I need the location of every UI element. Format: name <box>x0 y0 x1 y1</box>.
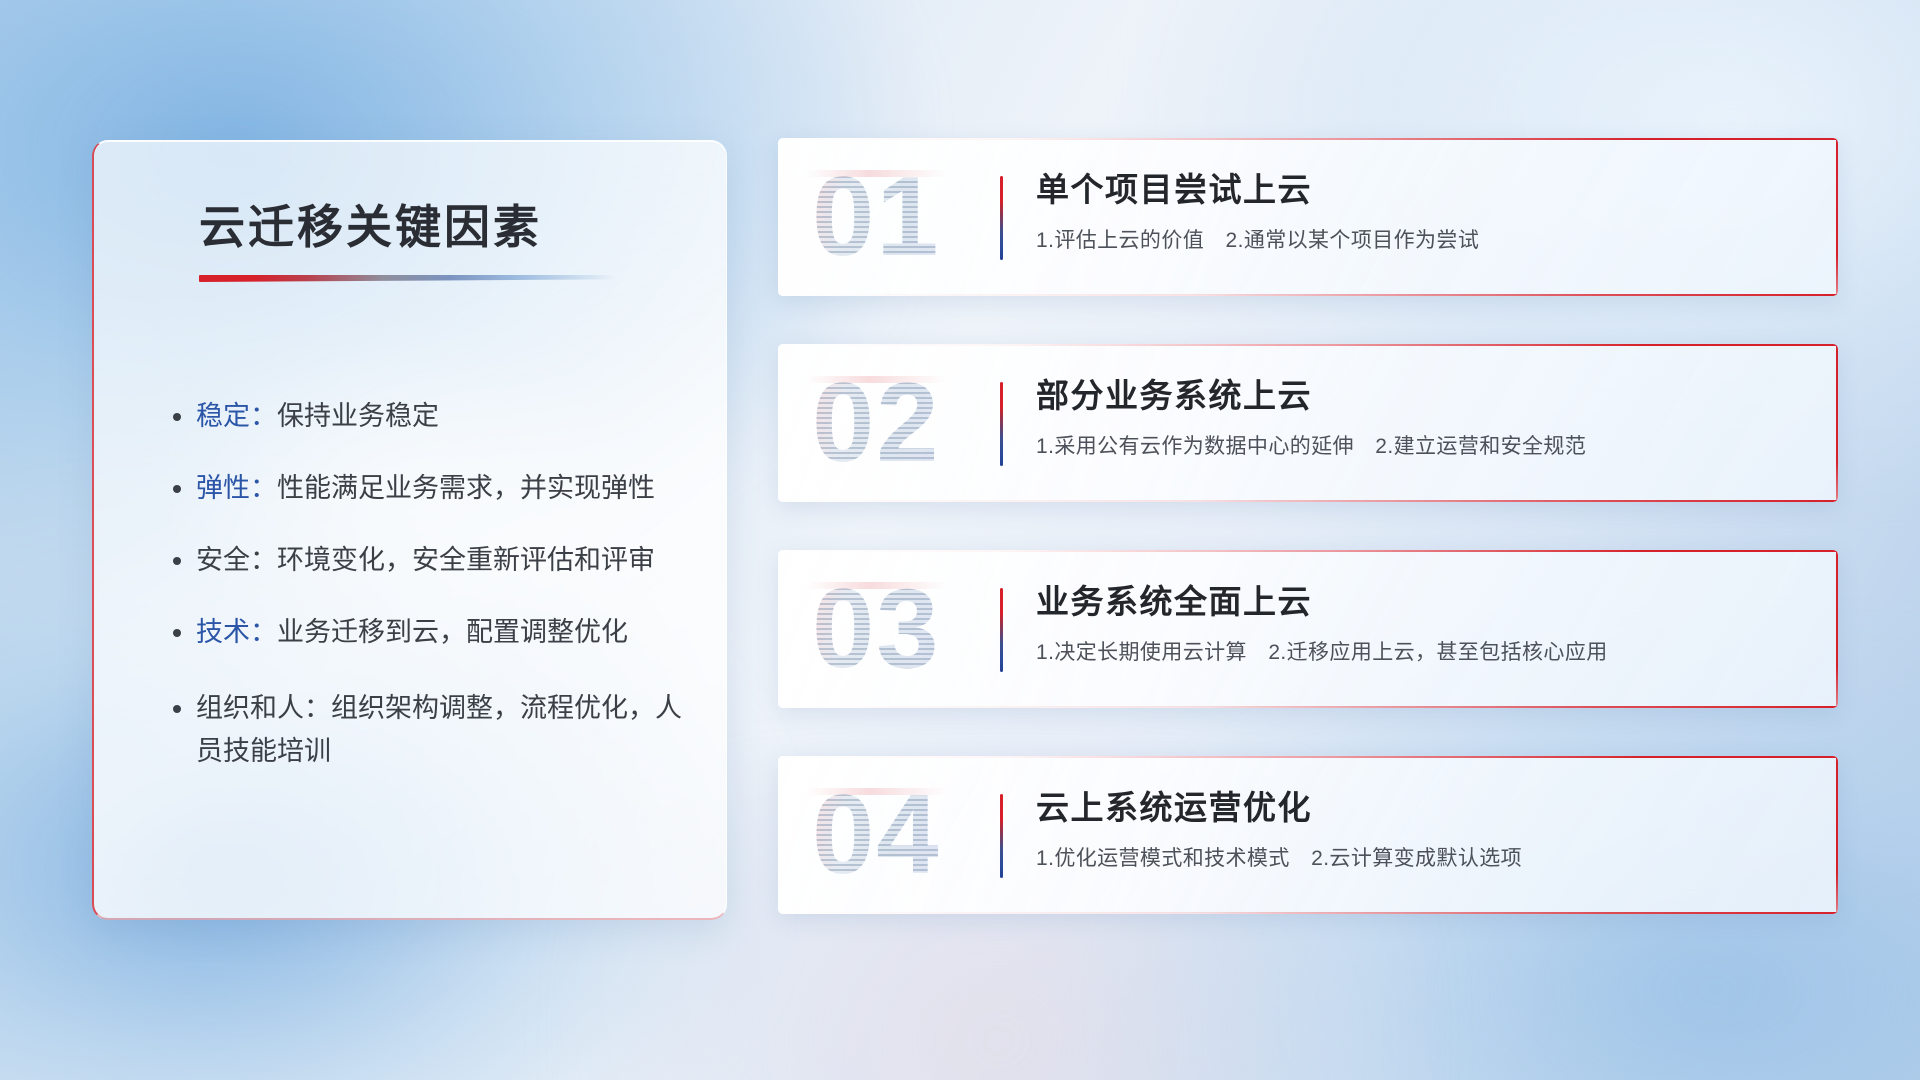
stage-description: 1.评估上云的价值 2.通常以某个项目作为尝试 <box>1036 226 1798 255</box>
stage-text-block: 部分业务系统上云 1.采用公有云作为数据中心的延伸 2.建立运营和安全规范 <box>1036 376 1798 461</box>
card-right-accent-line <box>1836 344 1838 502</box>
list-item: 弹性：性能满足业务需求，并实现弹性 <box>196 471 696 507</box>
card-right-accent-line <box>1836 550 1838 708</box>
stage-card-03[interactable]: 03 业务系统全面上云 1.决定长期使用云计算 2.迁移应用上云，甚至包括核心应… <box>778 550 1838 708</box>
factor-label: 弹性： <box>196 473 277 503</box>
factor-text: 保持业务稳定 <box>277 401 439 431</box>
card-bottom-accent-line <box>778 294 1838 296</box>
factor-text: 环境变化，安全重新评估和评审 <box>277 545 655 575</box>
card-top-accent-line <box>778 344 1838 346</box>
factor-label: 组织和人： <box>196 693 331 723</box>
stage-number-watermark: 03 <box>812 573 941 685</box>
slide-stage: 云迁移关键因素 稳定：保持业务稳定 弹性：性能满足业务需求，并实现弹性 安全：环… <box>0 0 1920 1080</box>
list-item: 组织和人：组织架构调整，流程优化，人员技能培训 <box>196 687 696 774</box>
factor-text: 性能满足业务需求，并实现弹性 <box>277 473 655 503</box>
key-factors-list: 稳定：保持业务稳定 弹性：性能满足业务需求，并实现弹性 安全：环境变化，安全重新… <box>196 399 696 774</box>
stage-divider-bar <box>1000 382 1003 466</box>
card-bottom-accent-line <box>778 912 1838 914</box>
factor-text: 业务迁移到云，配置调整优化 <box>277 617 628 647</box>
card-top-accent-line <box>778 138 1838 140</box>
card-right-accent-line <box>1836 138 1838 296</box>
stage-divider-bar <box>1000 588 1003 672</box>
stage-card-01[interactable]: 01 单个项目尝试上云 1.评估上云的价值 2.通常以某个项目作为尝试 <box>778 138 1838 296</box>
stage-text-block: 云上系统运营优化 1.优化运营模式和技术模式 2.云计算变成默认选项 <box>1036 788 1798 873</box>
cloud-migration-stages: 01 单个项目尝试上云 1.评估上云的价值 2.通常以某个项目作为尝试 02 部… <box>778 138 1838 914</box>
stage-description: 1.采用公有云作为数据中心的延伸 2.建立运营和安全规范 <box>1036 432 1798 461</box>
stage-text-block: 单个项目尝试上云 1.评估上云的价值 2.通常以某个项目作为尝试 <box>1036 170 1798 255</box>
card-top-accent-line <box>778 550 1838 552</box>
stage-divider-bar <box>1000 794 1003 878</box>
list-item: 稳定：保持业务稳定 <box>196 399 696 435</box>
card-bottom-accent-line <box>778 706 1838 708</box>
factor-label: 稳定： <box>196 401 277 431</box>
factor-label: 技术： <box>196 617 277 647</box>
list-item: 技术：业务迁移到云，配置调整优化 <box>196 615 696 651</box>
stage-title: 业务系统全面上云 <box>1036 582 1798 622</box>
stage-number-watermark: 02 <box>812 367 941 479</box>
key-factors-panel: 云迁移关键因素 稳定：保持业务稳定 弹性：性能满足业务需求，并实现弹性 安全：环… <box>92 140 727 920</box>
factor-label: 安全： <box>196 545 277 575</box>
stage-title: 单个项目尝试上云 <box>1036 170 1798 210</box>
stage-divider-bar <box>1000 176 1003 260</box>
page-title: 云迁移关键因素 <box>199 191 542 257</box>
stage-title: 云上系统运营优化 <box>1036 788 1798 828</box>
card-bottom-accent-line <box>778 500 1838 502</box>
stage-text-block: 业务系统全面上云 1.决定长期使用云计算 2.迁移应用上云，甚至包括核心应用 <box>1036 582 1798 667</box>
title-underline-rule <box>199 275 617 282</box>
list-item: 安全：环境变化，安全重新评估和评审 <box>196 543 696 579</box>
card-top-accent-line <box>778 756 1838 758</box>
stage-number-watermark: 04 <box>812 779 941 891</box>
stage-description: 1.决定长期使用云计算 2.迁移应用上云，甚至包括核心应用 <box>1036 638 1798 667</box>
card-right-accent-line <box>1836 756 1838 914</box>
stage-title: 部分业务系统上云 <box>1036 376 1798 416</box>
stage-description: 1.优化运营模式和技术模式 2.云计算变成默认选项 <box>1036 844 1798 873</box>
stage-card-04[interactable]: 04 云上系统运营优化 1.优化运营模式和技术模式 2.云计算变成默认选项 <box>778 756 1838 914</box>
stage-number-watermark: 01 <box>812 161 941 273</box>
stage-card-02[interactable]: 02 部分业务系统上云 1.采用公有云作为数据中心的延伸 2.建立运营和安全规范 <box>778 344 1838 502</box>
